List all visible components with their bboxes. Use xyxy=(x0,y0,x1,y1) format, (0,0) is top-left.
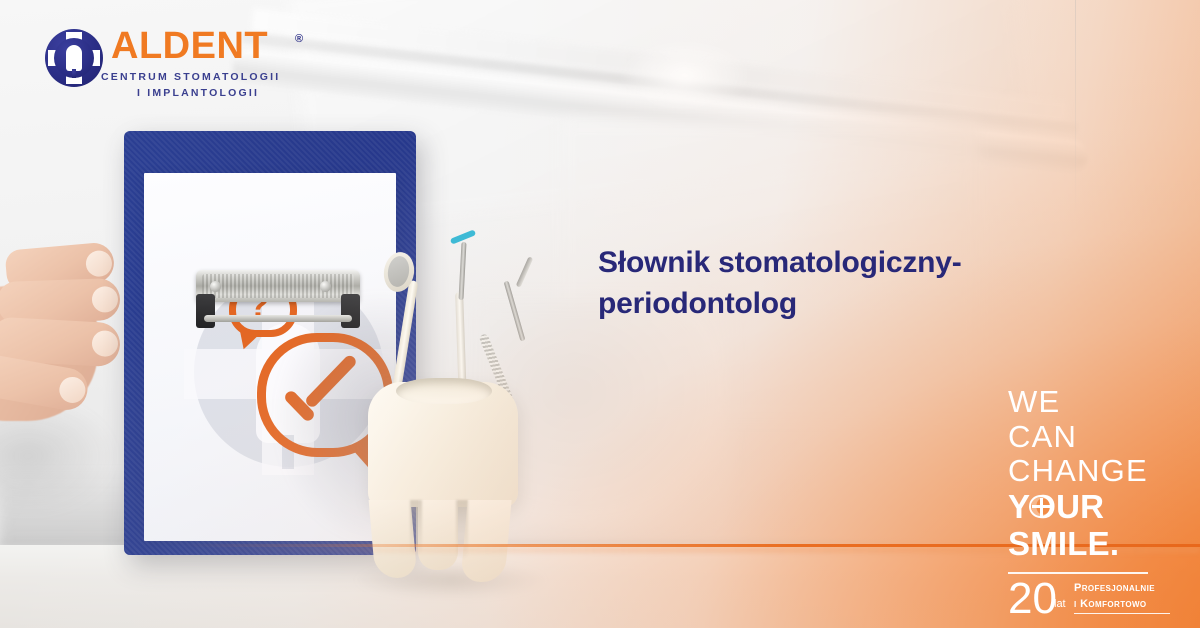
anniversary-caption-line-1: Profesjonalnie xyxy=(1074,583,1155,594)
slogan-line-change: CHANGE xyxy=(1008,454,1173,489)
slogan-line-can: CAN xyxy=(1008,420,1173,455)
anniversary-number: 20 xyxy=(1008,577,1057,621)
anniversary-unit: lat xyxy=(1054,599,1066,610)
tooth-glyph xyxy=(66,45,82,71)
registered-trademark-symbol: ® xyxy=(295,33,303,45)
slogan-line-we: WE xyxy=(1008,385,1173,420)
brand-wordmark: ALDENT xyxy=(111,27,268,67)
page-title-line-1: Słownik stomatologiczny- xyxy=(598,246,962,279)
slogan-line-your: YOUR xyxy=(1008,489,1173,526)
background-seam-line xyxy=(1075,0,1076,215)
brand-slogan-block: WE CAN CHANGE YOUR SMILE. 20 lat Profesj… xyxy=(1008,385,1173,625)
anniversary-badge: 20 lat Profesjonalnie i Komfortowo xyxy=(1008,579,1173,625)
brand-tagline-line-1: CENTRUM STOMATOLOGII xyxy=(101,71,280,83)
anniversary-caption-underline xyxy=(1074,613,1170,614)
brand-logo[interactable]: ALDENT ® CENTRUM STOMATOLOGII I IMPLANTO… xyxy=(45,27,285,103)
page-title: Słownik stomatologiczny- periodontolog xyxy=(598,243,1018,324)
brand-tagline-line-2: I IMPLANTOLOGII xyxy=(137,87,259,99)
slogan-line-smile: SMILE. xyxy=(1008,526,1173,563)
page-title-line-2: periodontolog xyxy=(598,284,1018,325)
anniversary-caption-line-2: i Komfortowo xyxy=(1074,599,1147,610)
aldent-emblem-in-o-icon xyxy=(1029,495,1052,518)
poster-canvas: ? xyxy=(0,0,1200,628)
aldent-tooth-cross-emblem-icon xyxy=(45,29,103,87)
slogan-your-text: YOUR xyxy=(1008,489,1104,526)
